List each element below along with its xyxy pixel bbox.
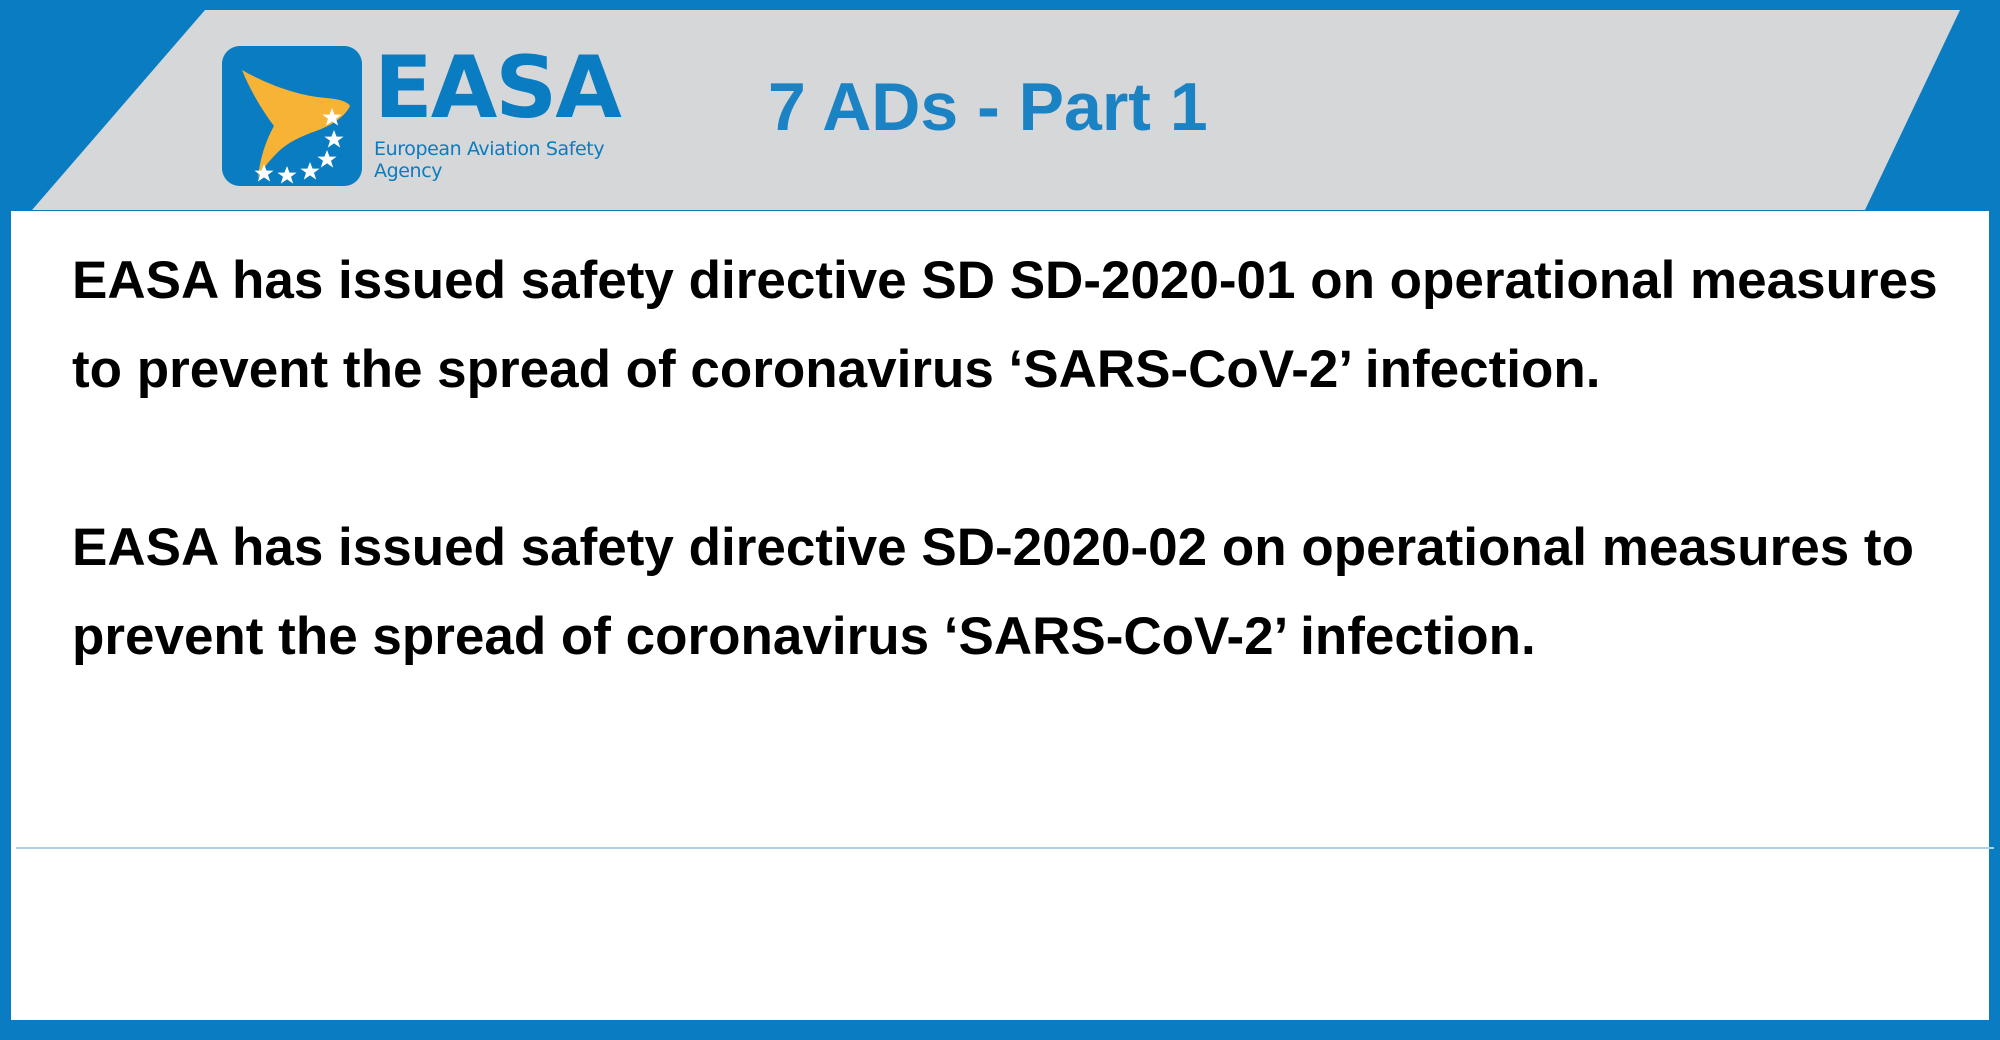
slide-title: 7 ADs - Part 1 [768,64,1208,150]
header-banner: EASA European Aviation Safety Agency 7 A… [0,10,2000,210]
paragraph-spacer [72,414,1942,503]
content-divider [16,847,1994,849]
body-text-block: EASA has issued safety directive SD SD-2… [72,236,1942,681]
content-frame: EASA has issued safety directive SD SD-2… [11,211,1989,1020]
presentation-slide: EASA European Aviation Safety Agency 7 A… [0,0,2000,1040]
easa-wordmark-text: EASA [374,40,674,136]
body-paragraph-2: EASA has issued safety directive SD-2020… [72,503,1942,681]
easa-wordmark: EASA European Aviation Safety Agency [374,40,674,182]
easa-tagline: European Aviation Safety Agency [374,138,674,182]
body-paragraph-1: EASA has issued safety directive SD SD-2… [72,236,1942,414]
easa-bird-logo-icon [222,46,362,186]
content-area: EASA has issued safety directive SD SD-2… [16,216,1984,1015]
easa-logo: EASA European Aviation Safety Agency [222,36,682,184]
header-content: EASA European Aviation Safety Agency 7 A… [0,10,2000,210]
